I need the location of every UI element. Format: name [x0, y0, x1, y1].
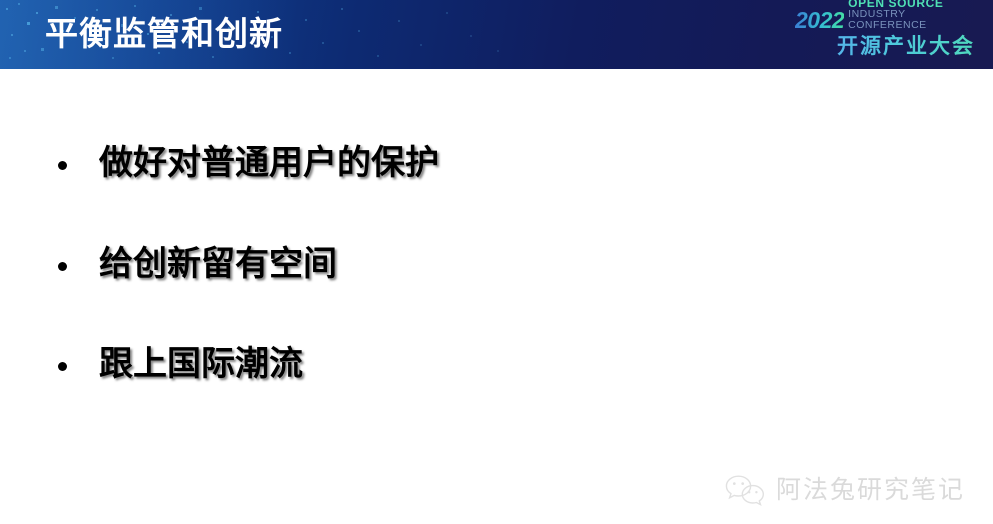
logo-top-row: 2022 OPEN SOURCE INDUSTRY CONFERENCE [795, 6, 975, 32]
particle-dot [27, 22, 30, 25]
particle-dot [18, 3, 20, 5]
bullet-item: 做好对普通用户的保护 [58, 139, 439, 187]
wechat-icon [724, 474, 766, 506]
particle-dot [420, 44, 422, 46]
bullet-text: 给创新留有空间 [99, 240, 337, 288]
particle-dot [55, 6, 58, 9]
particle-dot [289, 52, 291, 54]
particle-dot [36, 12, 38, 14]
particle-dot [341, 8, 343, 10]
bullet-item: 给创新留有空间 [58, 240, 337, 288]
particle-dot [199, 7, 202, 10]
conference-logo: 2022 OPEN SOURCE INDUSTRY CONFERENCE 开源产… [795, 6, 975, 62]
particle-dot [96, 9, 98, 11]
particle-dot [322, 42, 324, 44]
bullet-dot-icon [58, 262, 67, 271]
presentation-slide: 平衡监管和创新 2022 OPEN SOURCE INDUSTRY CONFER… [0, 0, 993, 524]
particle-dot [212, 56, 214, 58]
bullet-dot-icon [58, 161, 67, 170]
bullet-text: 跟上国际潮流 [99, 340, 303, 388]
particle-dot [134, 5, 136, 7]
bullet-dot-icon [58, 362, 67, 371]
logo-chinese-name: 开源产业大会 [795, 34, 975, 60]
bullet-text: 做好对普通用户的保护 [99, 139, 439, 187]
slide-header-bar: 平衡监管和创新 2022 OPEN SOURCE INDUSTRY CONFER… [0, 0, 993, 69]
bullet-item: 跟上国际潮流 [58, 340, 303, 388]
particle-dot [41, 48, 44, 51]
particle-dot [305, 19, 307, 21]
particle-dot [112, 57, 114, 59]
page-title: 平衡监管和创新 [45, 12, 283, 56]
particle-dot [6, 8, 8, 10]
particle-dot [377, 55, 379, 57]
logo-en-bottom: INDUSTRY CONFERENCE [848, 9, 975, 31]
particle-dot [398, 20, 400, 22]
particle-dot [470, 35, 472, 37]
particle-dot [24, 50, 26, 52]
logo-english-block: OPEN SOURCE INDUSTRY CONFERENCE [848, 0, 975, 32]
watermark-text: 阿法兔研究笔记 [776, 475, 965, 505]
particle-dot [497, 50, 499, 52]
particle-dot [11, 34, 13, 36]
logo-year: 2022 [795, 8, 844, 32]
watermark: 阿法兔研究笔记 [724, 474, 965, 506]
particle-dot [9, 57, 11, 59]
particle-dot [358, 30, 360, 32]
particle-dot [446, 12, 448, 14]
